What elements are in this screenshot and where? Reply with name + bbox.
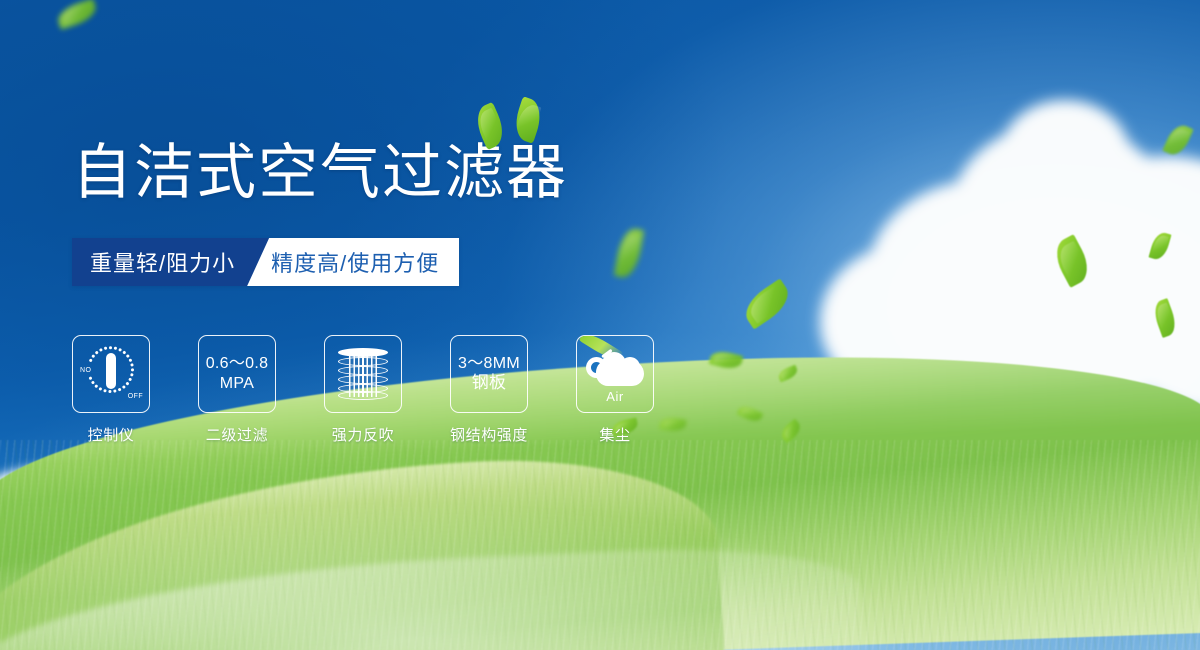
subtitle-bar: 重量轻/阻力小 精度高/使用方便 [72, 238, 459, 286]
steel-value-line1: 3～8MM [458, 354, 520, 374]
feature-icon-box: 3～8MM 钢板 [450, 335, 528, 413]
title-block: 自洁式空气过滤器 [72, 143, 568, 203]
pressure-value-line2: MPA [220, 374, 254, 394]
steel-value-line2: 钢板 [472, 373, 507, 394]
feature-label: 强力反吹 [332, 424, 394, 445]
feature-label: 控制仪 [88, 424, 135, 445]
feature-label: 二级过滤 [206, 424, 268, 445]
subtitle-right: 精度高/使用方便 [247, 238, 459, 286]
feature-item-backblow[interactable]: 强力反吹 [324, 335, 402, 445]
feature-icon-box: Air [576, 335, 654, 413]
feature-icon-box: 0.6～0.8 MPA [198, 335, 276, 413]
feature-list: NO OFF 控制仪 0.6～0.8 MPA 二级过滤 [72, 335, 654, 445]
gauge-dial-icon: NO OFF [80, 346, 142, 402]
air-cloud-icon: Air [582, 346, 648, 402]
subtitle-left: 重量轻/阻力小 [72, 238, 269, 286]
gauge-off-label: OFF [128, 393, 143, 400]
air-label: Air [582, 389, 648, 404]
gauge-on-label: NO [80, 367, 91, 374]
filter-cartridge-icon [338, 348, 388, 400]
feature-icon-box: NO OFF [72, 335, 150, 413]
feature-item-controller[interactable]: NO OFF 控制仪 [72, 335, 150, 445]
feature-item-steel-structure[interactable]: 3～8MM 钢板 钢结构强度 [450, 335, 528, 445]
feature-label: 集尘 [599, 424, 630, 445]
pressure-value-line1: 0.6～0.8 [206, 354, 269, 374]
page-title: 自洁式空气过滤器 [72, 143, 568, 203]
sprout-leaves-icon [476, 95, 548, 151]
feature-icon-box [324, 335, 402, 413]
feature-item-secondary-filter[interactable]: 0.6～0.8 MPA 二级过滤 [198, 335, 276, 445]
feature-item-dust-collection[interactable]: Air 集尘 [576, 335, 654, 445]
feature-label: 钢结构强度 [450, 424, 528, 445]
gauge-needle [106, 353, 116, 389]
product-banner: 自洁式空气过滤器 重量轻/阻力小 精度高/使用方便 [0, 0, 1200, 650]
